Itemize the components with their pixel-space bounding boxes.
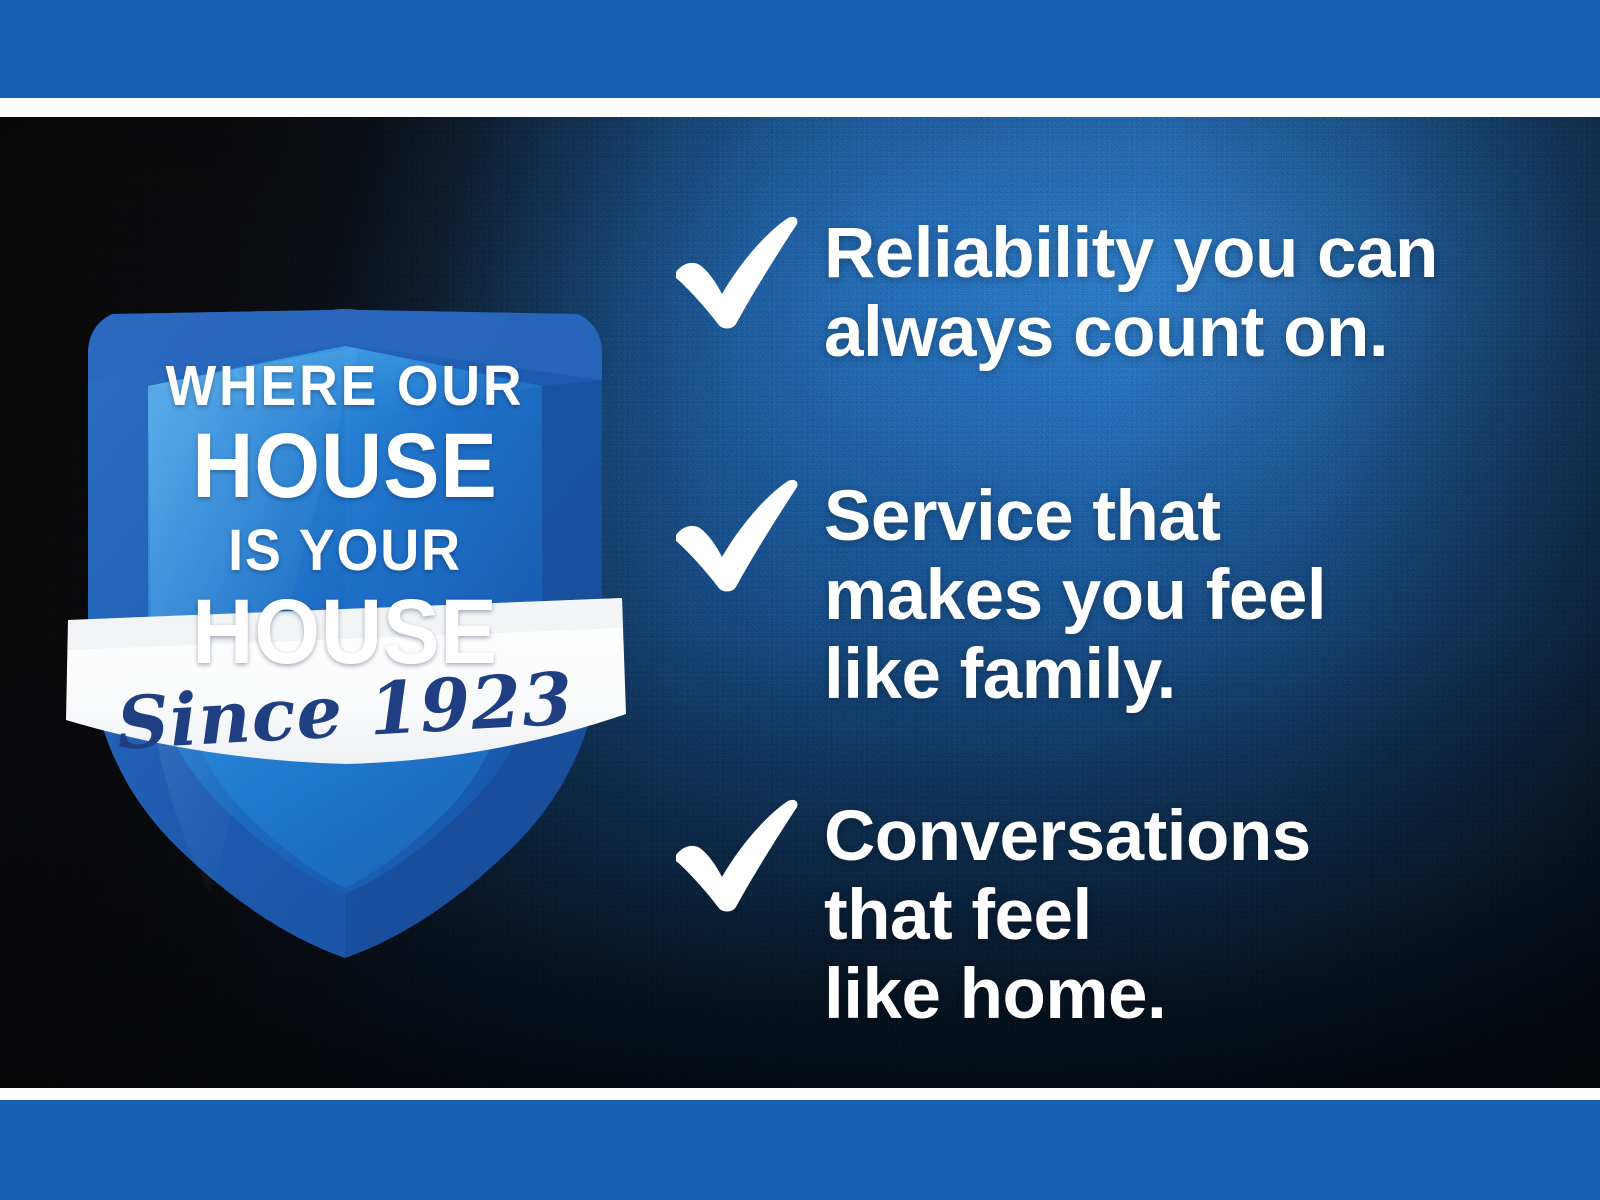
- checkmark-icon: [660, 795, 802, 913]
- bottom-brand-bar: [0, 1100, 1600, 1200]
- benefits-list: Reliability you can always count on. Ser…: [660, 117, 1540, 1088]
- top-brand-bar: [0, 0, 1600, 98]
- benefit-text: Conversations that feel like home.: [824, 795, 1540, 1034]
- benefit-text: Service that makes you feel like family.: [824, 475, 1540, 714]
- checkmark-icon: [660, 212, 802, 330]
- benefit-text: Reliability you can always count on.: [824, 212, 1540, 372]
- promotional-banner: WHERE OUR HOUSE IS YOUR HOUSE Since 1923…: [0, 0, 1600, 1200]
- checkmark-icon: [660, 475, 802, 593]
- brand-emblem: WHERE OUR HOUSE IS YOUR HOUSE Since 1923: [60, 158, 630, 958]
- benefit-item: Reliability you can always count on.: [660, 212, 1540, 372]
- benefit-item: Conversations that feel like home.: [660, 795, 1540, 1034]
- shield-graphic: [60, 158, 630, 958]
- benefit-item: Service that makes you feel like family.: [660, 475, 1540, 714]
